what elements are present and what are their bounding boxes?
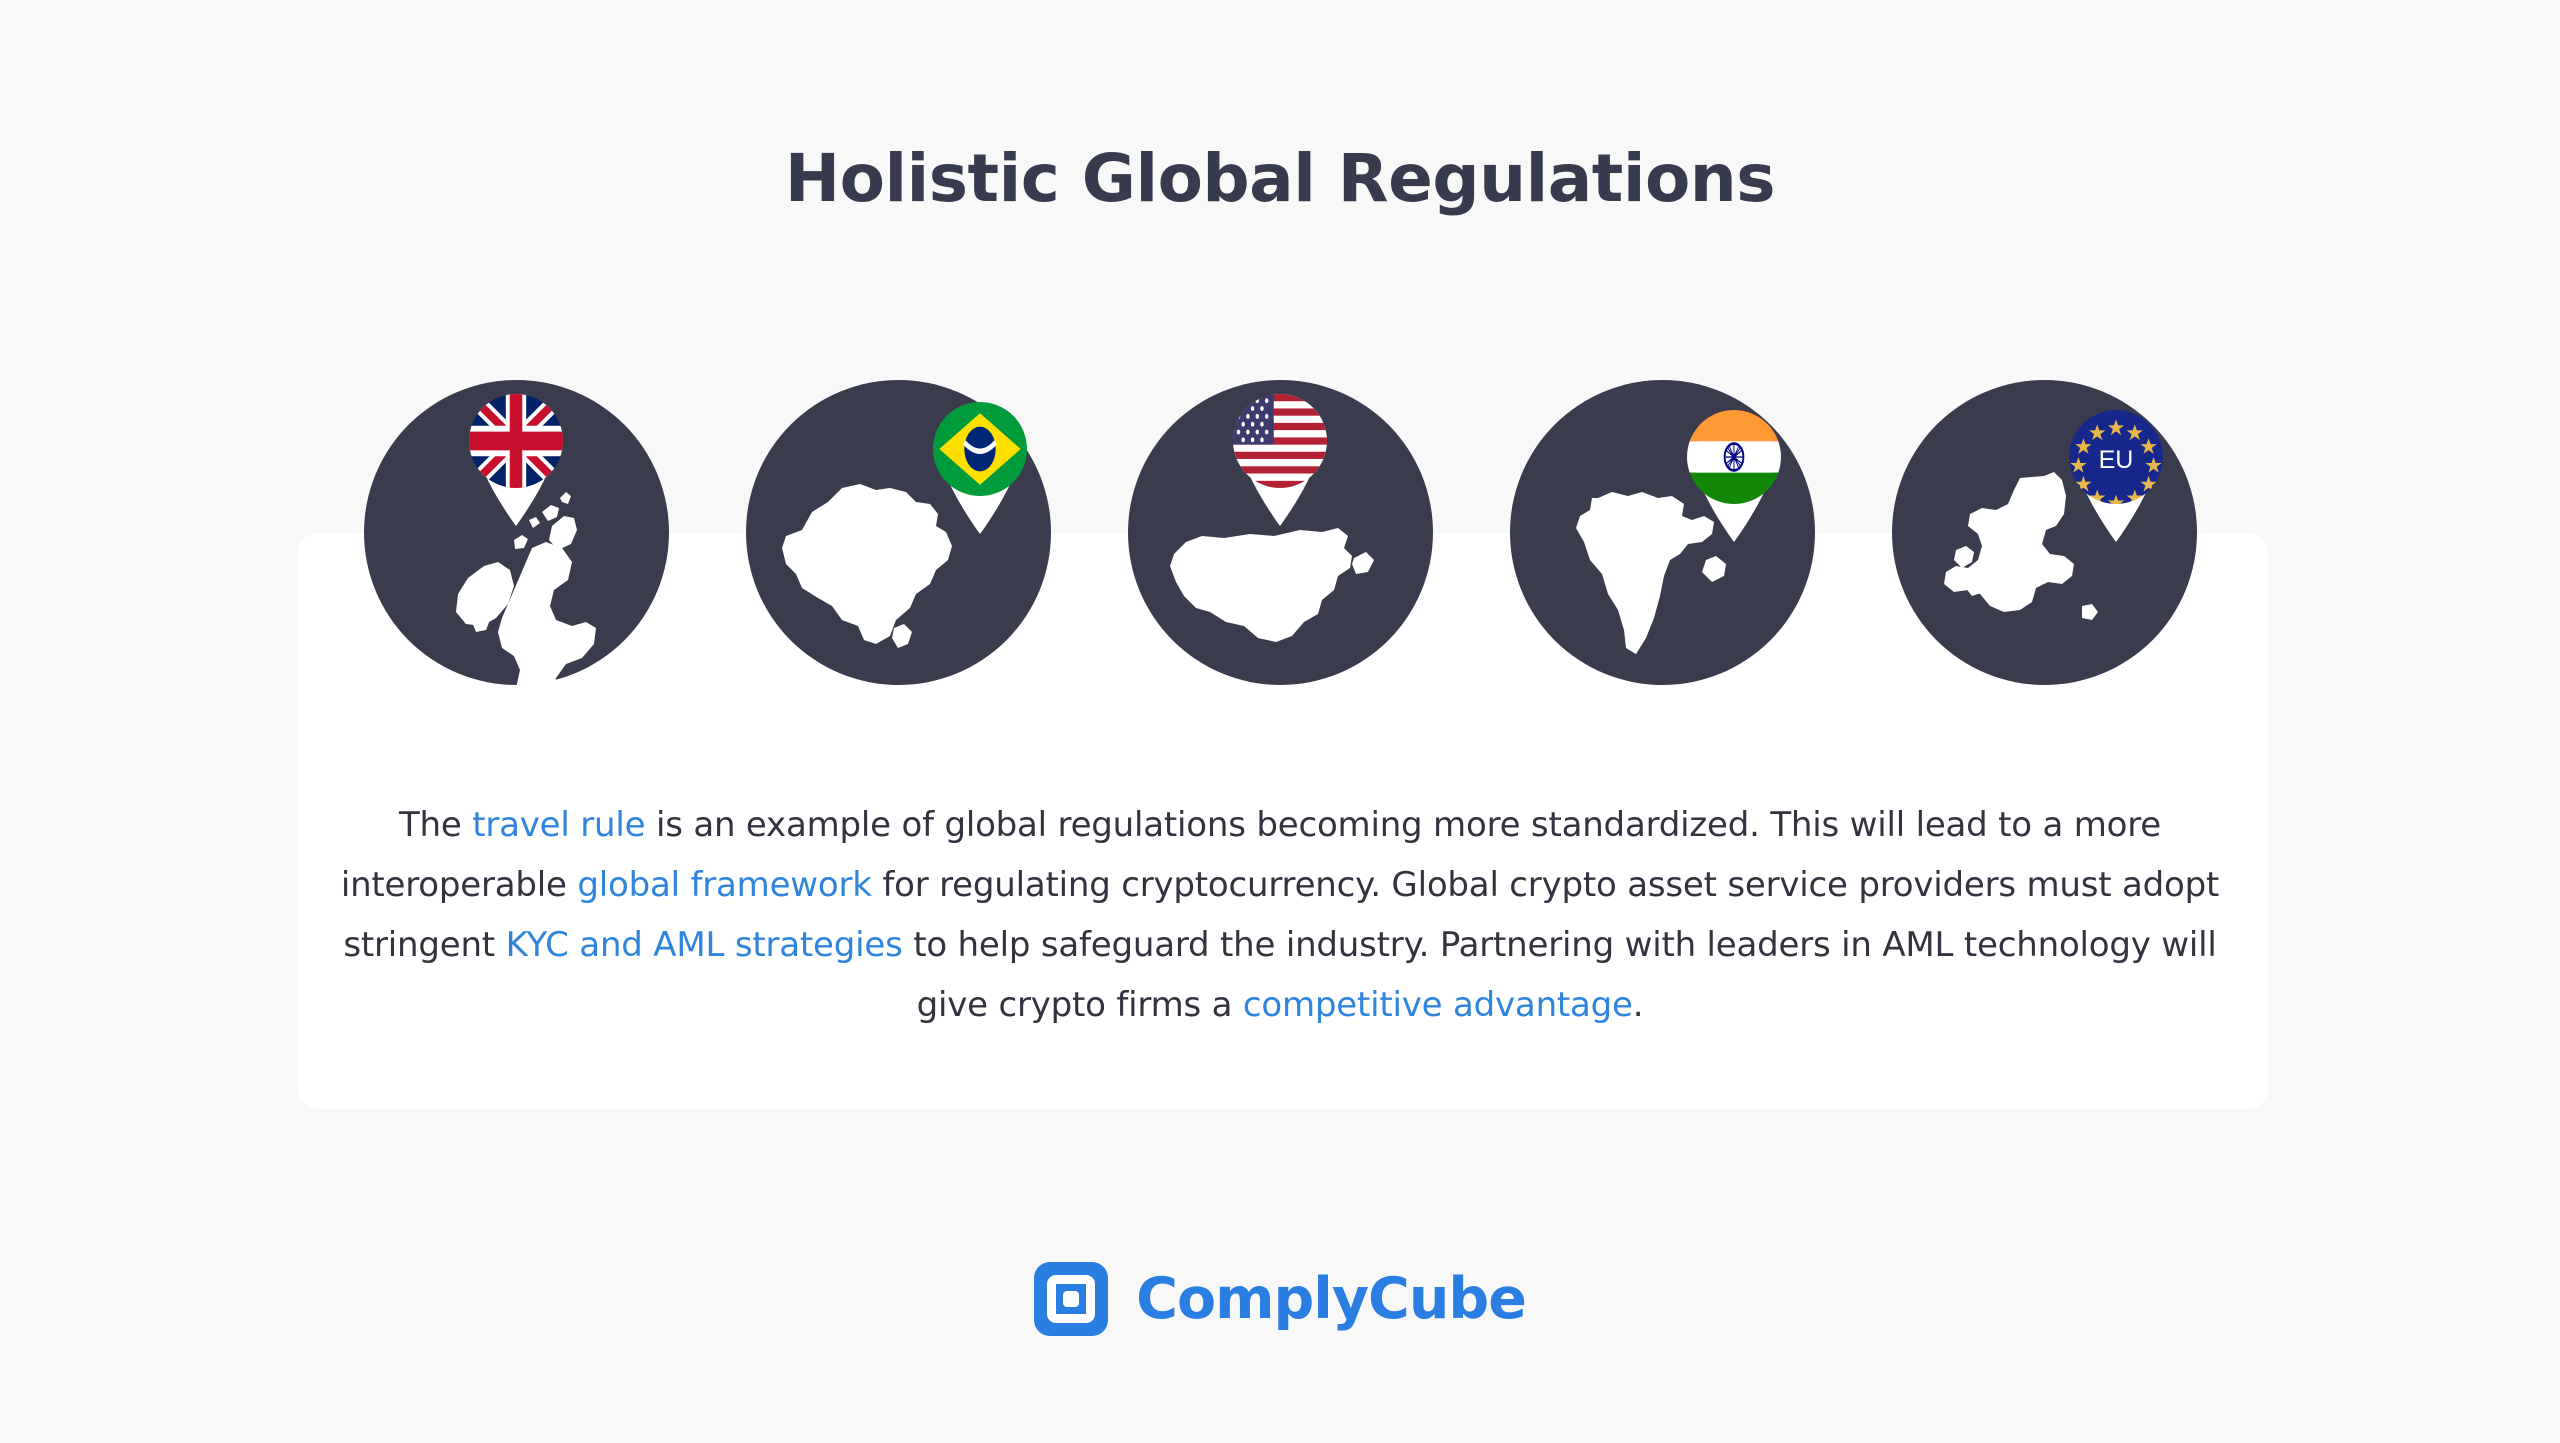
country-circle-usa[interactable] <box>1128 380 1433 685</box>
body-paragraph: The travel rule is an example of global … <box>330 795 2230 1035</box>
text-segment: . <box>1633 985 1644 1025</box>
india-flag <box>1687 410 1781 504</box>
map-pin-usa <box>1224 386 1336 526</box>
text-segment: The <box>399 805 472 845</box>
eu-flag: EU <box>2069 410 2163 504</box>
link-kyc-aml-strategies[interactable]: KYC and AML strategies <box>506 925 903 965</box>
uk-flag <box>469 394 563 488</box>
country-circle-brazil[interactable] <box>746 380 1051 685</box>
brand-name: ComplyCube <box>1136 1266 1526 1332</box>
infographic-page: Holistic Global Regulations <box>0 0 2560 1443</box>
link-global-framework[interactable]: global framework <box>577 865 871 905</box>
usa-flag <box>1233 394 1327 488</box>
country-circle-uk[interactable] <box>364 380 669 685</box>
country-circles-row: EU <box>0 380 2560 685</box>
page-title: Holistic Global Regulations <box>0 140 2560 217</box>
map-pin-eu: EU <box>2060 402 2172 542</box>
country-circle-eu[interactable]: EU <box>1892 380 2197 685</box>
eu-flag-label: EU <box>2098 446 2133 474</box>
country-circle-india[interactable] <box>1510 380 1815 685</box>
map-pin-india <box>1678 402 1790 542</box>
link-competitive-advantage[interactable]: competitive advantage <box>1243 985 1633 1025</box>
footer-logo[interactable]: ComplyCube <box>0 1262 2560 1336</box>
logo-dot <box>1063 1291 1079 1307</box>
map-pin-brazil <box>924 394 1036 534</box>
brazil-flag <box>933 402 1027 496</box>
complycube-logo-icon <box>1034 1262 1108 1336</box>
link-travel-rule[interactable]: travel rule <box>472 805 645 845</box>
map-pin-uk <box>460 386 572 526</box>
